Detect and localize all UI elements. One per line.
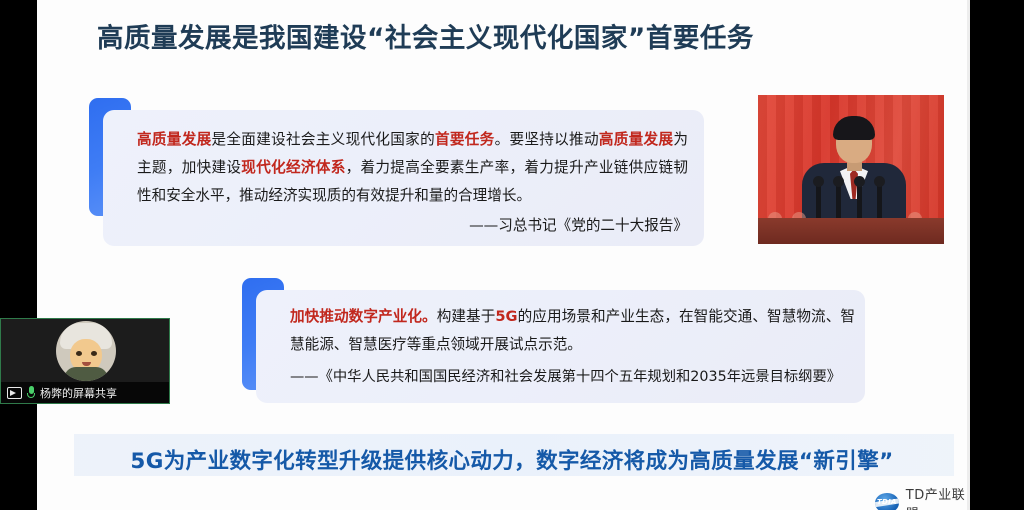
body-text: 。要坚持以推动: [495, 131, 599, 148]
tdia-globe-icon: TDIA: [875, 493, 899, 510]
slide-banner-text: 5G为产业数字化转型升级提供核心动力，数字经济将成为高质量发展“新引擎”: [97, 444, 927, 475]
highlighted-text: 首要任务: [435, 131, 495, 148]
highlighted-text: 5G: [495, 308, 517, 325]
avatar-eye: [91, 351, 97, 356]
slide-title: 高质量发展是我国建设“社会主义现代化国家”首要任务: [97, 16, 907, 55]
tdia-logo: TDIA TD产业联盟: [875, 484, 970, 510]
quote-card-2-source: ——《中华人民共和国国民经济和社会发展第十四个五年规划和2035年远景目标纲要》: [290, 366, 867, 388]
highlighted-text: 高质量发展: [137, 131, 212, 148]
highlighted-text: 高质量发展: [599, 131, 674, 148]
photo-podium: [758, 218, 944, 244]
microphone-icon: [857, 182, 862, 220]
microphone-icon: [836, 182, 841, 220]
speaker-photo: [758, 95, 944, 244]
tdia-mark-text: TDIA: [875, 498, 899, 506]
avatar-body: [64, 367, 108, 381]
microphone-icon: [816, 182, 821, 220]
body-text: 是全面建设社会主义现代化国家的: [212, 131, 435, 148]
presenter-name-label: 杨弊的屏幕共享: [40, 385, 117, 401]
microphone-icon[interactable]: [27, 386, 35, 399]
presentation-slide: 高质量发展是我国建设“社会主义现代化国家”首要任务 高质量发展是全面建设社会主义…: [37, 0, 970, 510]
quote-card-1-source: ——习总书记《党的二十大报告》: [137, 215, 688, 237]
highlighted-text: 现代化经济体系: [241, 159, 345, 176]
presenter-tile-statusbar: 杨弊的屏幕共享: [1, 382, 169, 403]
quote-card-2-text: 加快推动数字产业化。构建基于5G的应用场景和产业生态，在智能交通、智慧物流、智慧…: [290, 303, 855, 359]
avatar: [56, 321, 116, 381]
screen-share-icon: [7, 387, 22, 399]
presenter-video-tile[interactable]: 杨弊的屏幕共享: [0, 318, 170, 404]
quote-card-1-text: 高质量发展是全面建设社会主义现代化国家的首要任务。要坚持以推动高质量发展为主题，…: [137, 126, 688, 210]
avatar-eye: [76, 351, 82, 356]
shared-screen-viewport: 高质量发展是我国建设“社会主义现代化国家”首要任务 高质量发展是全面建设社会主义…: [0, 0, 1024, 510]
highlighted-text: 加快推动数字产业化。: [290, 308, 437, 325]
microphone-icon: [877, 182, 882, 220]
body-text: 构建基于: [437, 308, 496, 325]
tdia-logo-label: TD产业联盟: [906, 484, 970, 510]
